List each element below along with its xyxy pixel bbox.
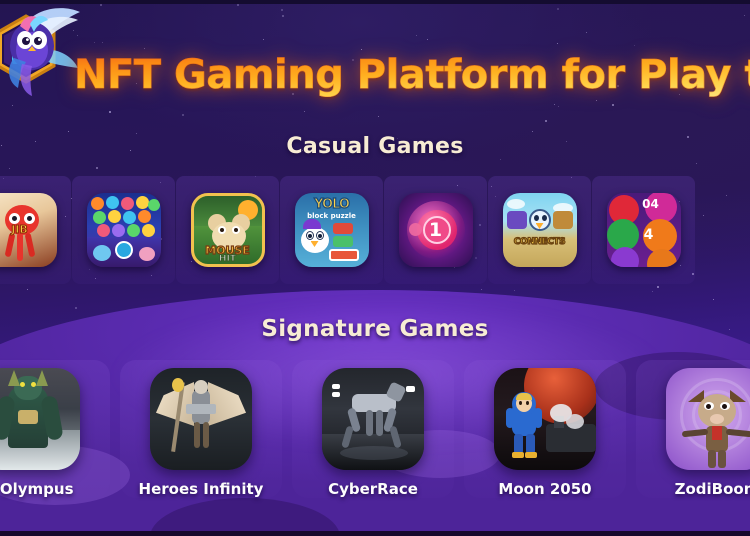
star-dot	[657, 286, 659, 288]
star-dot	[100, 4, 102, 6]
star-dot	[744, 15, 745, 16]
casual-game-card[interactable]: YOLO block puzzle	[280, 176, 383, 284]
signature-game-label: Moon 2050	[498, 480, 591, 498]
signature-game-label: ZodiBoom	[675, 480, 750, 498]
signature-game-card[interactable]: e Olympus	[0, 360, 110, 498]
casual-game-card[interactable]: 04 6 4	[592, 176, 695, 284]
yolo-block-puzzle-icon[interactable]: YOLO block puzzle	[295, 193, 369, 267]
zodiac-bull-icon[interactable]	[666, 368, 750, 470]
star-dot	[514, 290, 515, 291]
star-dot	[427, 39, 428, 40]
star-dot	[586, 32, 587, 33]
star-dot	[557, 8, 559, 10]
star-dot	[532, 131, 533, 132]
star-dot	[652, 291, 653, 292]
star-dot	[281, 9, 283, 11]
star-dot	[68, 131, 69, 132]
star-dot	[75, 307, 77, 309]
star-dot	[554, 104, 555, 105]
star-dot	[102, 42, 103, 43]
section-heading-signature: Signature Games	[0, 316, 750, 342]
star-dot	[634, 45, 635, 46]
casual-games-row: JIB	[0, 176, 750, 284]
olympus-warrior-icon[interactable]	[0, 368, 80, 470]
star-dot	[237, 4, 239, 6]
signature-game-label: e Olympus	[0, 480, 74, 498]
signature-games-row: e Olympus Heroes Infinity	[0, 360, 750, 510]
yolo-sub-label: block puzzle	[295, 212, 369, 220]
number-balls-icon[interactable]: 04 6 4	[607, 193, 681, 267]
casual-game-card[interactable]: 1	[384, 176, 487, 284]
yolo-title-label: YOLO	[295, 197, 369, 212]
star-dot	[713, 299, 714, 300]
signature-game-card[interactable]: Heroes Infinity	[120, 360, 282, 498]
star-dot	[94, 42, 95, 43]
section-heading-casual: Casual Games	[0, 134, 750, 159]
star-dot	[282, 15, 284, 17]
squid-title-text: JIB	[0, 223, 57, 236]
page-stage: M NFT Gaming Platform for Play to Ear Ca…	[0, 0, 750, 536]
ball-04-label: 04	[635, 197, 667, 211]
star-dot	[558, 106, 559, 107]
connects-title-label: CONNECTS	[503, 237, 577, 247]
bottom-edge-strip	[0, 531, 750, 536]
astronaut-mars-icon[interactable]	[494, 368, 596, 470]
casual-game-card[interactable]: MOUSE HIT	[176, 176, 279, 284]
signature-game-label: Heroes Infinity	[139, 480, 264, 498]
casual-game-card[interactable]	[72, 176, 175, 284]
star-dot	[378, 116, 379, 117]
star-dot	[304, 111, 305, 112]
mouse-hit-bottom-label: HIT	[194, 254, 262, 264]
signature-game-card[interactable]: Moon 2050	[464, 360, 626, 498]
star-dot	[612, 104, 614, 106]
star-dot	[500, 159, 501, 160]
brand-logo[interactable]: M	[0, 2, 84, 118]
signature-game-card[interactable]: CyberRace	[292, 360, 454, 498]
mouse-hit-icon[interactable]: MOUSE HIT	[191, 193, 265, 267]
star-dot	[545, 120, 547, 122]
winged-hero-icon[interactable]	[150, 368, 252, 470]
ball-4-label: 4	[633, 227, 665, 243]
star-dot	[416, 35, 417, 36]
signature-game-card[interactable]: ZodiBoom	[636, 360, 750, 498]
ball-6-label: 6	[607, 227, 617, 243]
star-dot	[182, 114, 184, 116]
star-dot	[9, 168, 10, 169]
casual-game-card[interactable]: CONNECTS	[488, 176, 591, 284]
star-dot	[481, 289, 482, 290]
connects-icon[interactable]: CONNECTS	[503, 193, 577, 267]
page-title: NFT Gaming Platform for Play to Ear	[74, 49, 750, 101]
squid-game-icon[interactable]: JIB	[0, 193, 57, 267]
bubble-shooter-icon[interactable]	[87, 193, 161, 267]
star-dot	[109, 111, 111, 113]
casual-game-card[interactable]: JIB	[0, 176, 71, 284]
bingo-ball-icon[interactable]: 1	[399, 193, 473, 267]
star-dot	[557, 43, 558, 44]
star-dot	[263, 39, 264, 40]
top-edge-strip	[0, 0, 750, 4]
star-dot	[96, 167, 98, 169]
star-dot	[696, 163, 697, 164]
signature-game-label: CyberRace	[328, 480, 418, 498]
robot-horse-icon[interactable]	[322, 368, 424, 470]
star-dot	[27, 289, 28, 290]
